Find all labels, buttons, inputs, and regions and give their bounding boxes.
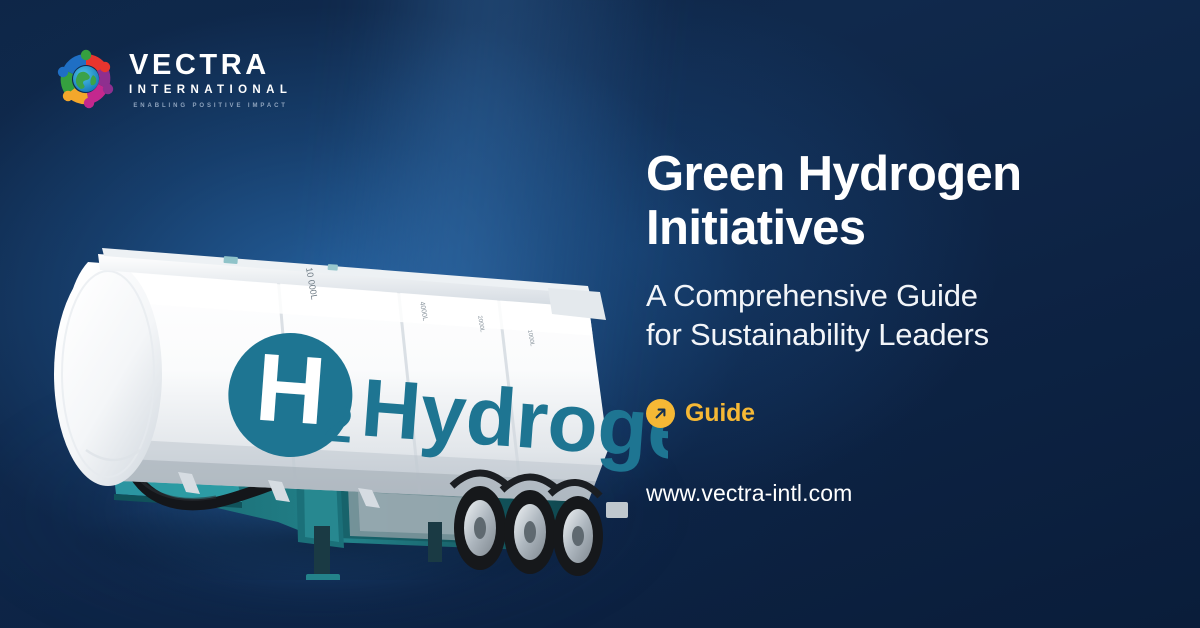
subhead-line-1: A Comprehensive Guide — [646, 278, 978, 313]
website-url[interactable]: www.vectra-intl.com — [646, 480, 1166, 507]
svg-text:2: 2 — [322, 395, 355, 455]
headline-line-2: Initiatives — [646, 201, 865, 255]
content-type-badge[interactable]: Guide — [646, 399, 1166, 428]
banner-root: H 2 Hydrogen 10 000L 4000L 2000L 1000L — [0, 0, 1200, 628]
page-subtitle: A Comprehensive Guide for Sustainability… — [646, 276, 1166, 355]
hydrogen-tanker-truck-image: H 2 Hydrogen 10 000L 4000L 2000L 1000L — [28, 150, 668, 580]
brand-tagline: ENABLING POSITIVE IMPACT — [129, 103, 292, 109]
brand-subtitle: INTERNATIONAL — [129, 85, 292, 97]
brand-logo-text: VECTRA INTERNATIONAL ENABLING POSITIVE I… — [129, 49, 292, 109]
page-title: Green Hydrogen Initiatives — [646, 148, 1166, 256]
brand-logo[interactable]: VECTRA INTERNATIONAL ENABLING POSITIVE I… — [55, 48, 292, 110]
brand-name: VECTRA — [129, 51, 292, 80]
people-globe-logo-icon — [55, 48, 117, 110]
hero-text-panel: Green Hydrogen Initiatives A Comprehensi… — [646, 148, 1166, 507]
arrow-up-right-icon — [646, 399, 675, 428]
subhead-line-2: for Sustainability Leaders — [646, 317, 989, 352]
svg-text:H: H — [252, 334, 329, 446]
headline-line-1: Green Hydrogen — [646, 147, 1022, 201]
status-badge: Guide — [685, 399, 755, 428]
tank-end-cap — [54, 262, 162, 486]
